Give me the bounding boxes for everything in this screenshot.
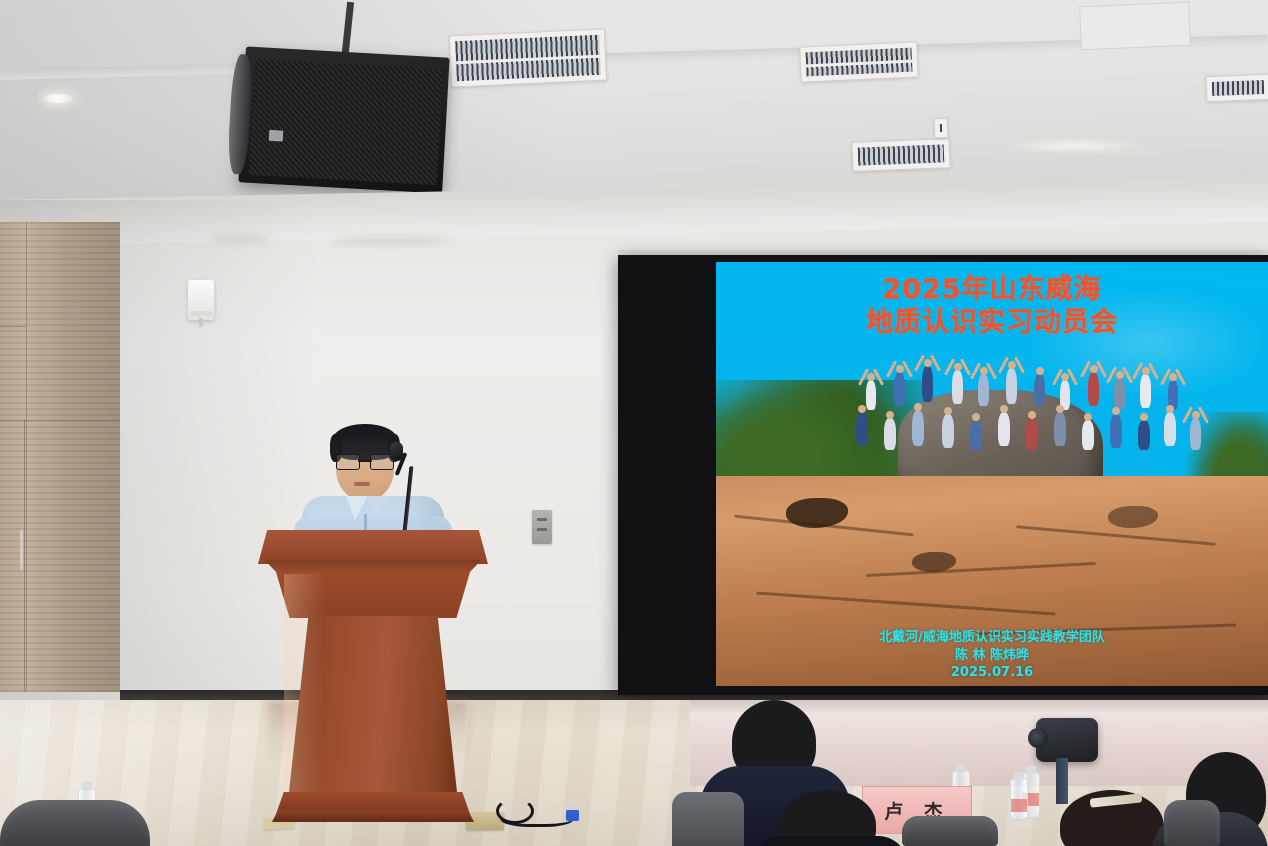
camera-icon: [1036, 718, 1098, 762]
slide-credit-authors: 陈 林 陈炜晔: [716, 647, 1268, 665]
slide-person: [1190, 418, 1201, 450]
wall-scuff: [66, 300, 80, 326]
slide-person: [978, 374, 989, 406]
slide-person: [1164, 412, 1176, 446]
hvac-vent-icon: [799, 41, 919, 82]
wall-scuff: [210, 236, 270, 242]
wall-socket-plate-icon[interactable]: [532, 510, 552, 544]
camera-mount: [1056, 758, 1068, 804]
slide-title-line1: 2025年山东威海: [882, 274, 1101, 305]
chair[interactable]: [902, 816, 998, 846]
wood-grain-overlay: [0, 222, 120, 692]
podium-highlight: [284, 574, 324, 814]
cable-run: [500, 806, 574, 827]
slide-credit-team: 北戴河/威海地质认识实习实践教学团队: [716, 629, 1268, 647]
lecture-hall-photo: 2025年山东威海 地质认识实习动员会 北戴河/威海地质认识实习实践教学团队 陈…: [0, 0, 1268, 846]
slide-credit-block: 北戴河/威海地质认识实习实践教学团队 陈 林 陈炜晔 2025.07.16: [716, 629, 1268, 682]
presentation-slide[interactable]: 2025年山东威海 地质认识实习动员会 北戴河/威海地质认识实习实践教学团队 陈…: [716, 262, 1268, 686]
podium-lip: [260, 560, 486, 574]
ceiling-speaker-icon: [238, 46, 449, 193]
slide-person: [1006, 368, 1017, 404]
wall-scuff: [58, 248, 84, 258]
slide-person: [970, 420, 982, 450]
ceiling-access-hatch: [1079, 2, 1191, 51]
cove-light-glow-right: [1000, 140, 1150, 152]
slide-person: [884, 418, 896, 450]
hvac-vent-icon: [449, 28, 607, 87]
slide-person: [1114, 378, 1125, 410]
slide-person: [1110, 414, 1122, 448]
slide-title: 2025年山东威海 地质认识实习动员会: [716, 274, 1268, 340]
slide-person: [1140, 374, 1151, 408]
hvac-vent-icon: [851, 138, 950, 172]
slide-person: [922, 366, 933, 402]
slide-person: [952, 370, 963, 404]
slide-person: [942, 414, 954, 448]
podium-top: [258, 530, 488, 564]
slide-person: [912, 410, 924, 446]
water-bottle: [1010, 778, 1028, 820]
ceiling-downlight: [43, 94, 73, 103]
slide-title-line2: 地质认识实习动员会: [716, 307, 1268, 340]
chair[interactable]: [1164, 800, 1220, 846]
slide-credit-date: 2025.07.16: [716, 664, 1268, 682]
panel-seam: [0, 420, 120, 421]
hvac-vent-icon: [934, 118, 949, 139]
podium: [258, 530, 488, 830]
slide-person: [894, 372, 905, 406]
slide-person: [856, 412, 868, 446]
door-handle[interactable]: [20, 530, 23, 570]
wood-door-edge[interactable]: [24, 420, 25, 692]
slide-person: [1138, 420, 1150, 450]
podium-plinth: [272, 810, 474, 822]
slide-person: [1054, 412, 1066, 446]
hvac-vent-icon: [1206, 74, 1268, 102]
slide-person: [1026, 418, 1038, 450]
glasses-icon: [336, 454, 394, 468]
camera-lens-icon: [1028, 728, 1048, 748]
slide-person: [1082, 420, 1094, 450]
wall-scuff: [330, 238, 450, 244]
slide-person: [866, 380, 876, 410]
panel-seam: [26, 222, 27, 692]
wall-mounted-unit-icon: [188, 280, 214, 320]
panel-seam: [0, 326, 26, 327]
slide-person: [1088, 372, 1099, 406]
chair[interactable]: [0, 800, 150, 846]
slide-person: [1034, 374, 1045, 406]
blue-cable-connector: [566, 810, 579, 821]
chair-back: [672, 792, 744, 846]
slide-person: [998, 412, 1010, 446]
